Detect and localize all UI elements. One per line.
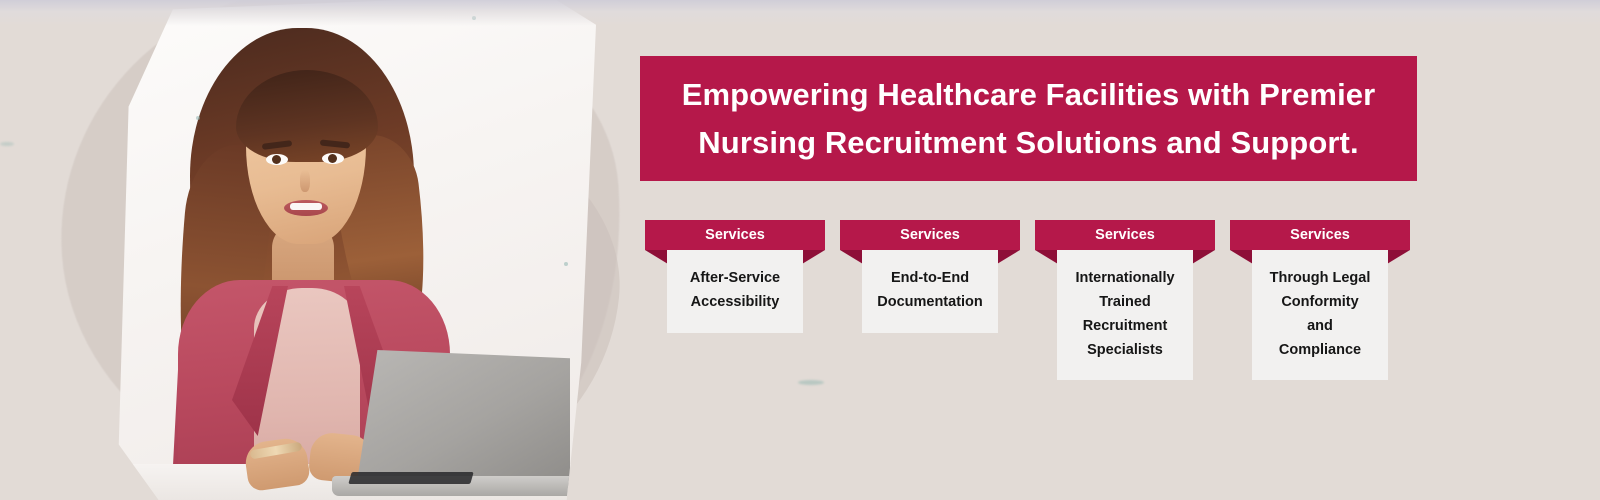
promo-banner: Empowering Healthcare Facilities with Pr…: [0, 0, 1600, 500]
service-card-ribbon: Services: [1035, 220, 1215, 250]
panel-speck: [196, 116, 200, 120]
ribbon-tail-left-icon: [840, 250, 863, 264]
content-column: Empowering Healthcare Facilities with Pr…: [640, 0, 1600, 500]
service-card[interactable]: Services End-to-End Documentation: [840, 220, 1020, 333]
service-card-body: End-to-End Documentation: [862, 250, 998, 333]
service-card-body: Internationally Trained Recruitment Spec…: [1057, 250, 1193, 380]
nose: [300, 170, 310, 192]
service-card-text: End-to-End Documentation: [870, 266, 990, 314]
eye-left: [266, 154, 288, 165]
service-card-ribbon-label: Services: [705, 228, 765, 243]
ribbon-tail-right-icon: [1192, 250, 1215, 264]
service-card[interactable]: Services Through Legal Conformity and Co…: [1230, 220, 1410, 380]
panel-speck: [564, 262, 568, 266]
service-card[interactable]: Services After-Service Accessibility: [645, 220, 825, 333]
service-card-body: After-Service Accessibility: [667, 250, 803, 333]
hero-photo-panel: [104, 0, 596, 500]
ribbon-tail-right-icon: [1387, 250, 1410, 264]
panel-speck: [472, 16, 476, 20]
laptop-screen: [356, 350, 570, 488]
service-card-ribbon: Services: [1230, 220, 1410, 250]
service-card-ribbon-label: Services: [900, 228, 960, 243]
headline-text: Empowering Healthcare Facilities with Pr…: [658, 71, 1399, 165]
service-card-text: Through Legal Conformity and Compliance: [1260, 266, 1380, 362]
service-card-ribbon: Services: [645, 220, 825, 250]
service-card-ribbon: Services: [840, 220, 1020, 250]
service-card-text: Internationally Trained Recruitment Spec…: [1065, 266, 1185, 362]
headline-banner: Empowering Healthcare Facilities with Pr…: [640, 56, 1417, 181]
eye-right: [322, 153, 344, 164]
hero-image: [0, 0, 640, 500]
service-card-body: Through Legal Conformity and Compliance: [1252, 250, 1388, 380]
laptop-keyboard: [348, 472, 473, 484]
service-card-ribbon-label: Services: [1095, 228, 1155, 243]
teeth: [290, 203, 322, 210]
service-card-list: Services After-Service Accessibility Ser…: [640, 220, 1430, 400]
ribbon-tail-left-icon: [1230, 250, 1253, 264]
service-card-text: After-Service Accessibility: [675, 266, 795, 314]
ribbon-tail-right-icon: [997, 250, 1020, 264]
ribbon-tail-left-icon: [1035, 250, 1058, 264]
background-artifact-smudge: [0, 142, 14, 146]
person-illustration: [104, 0, 596, 500]
ribbon-tail-left-icon: [645, 250, 668, 264]
service-card-ribbon-label: Services: [1290, 228, 1350, 243]
service-card[interactable]: Services Internationally Trained Recruit…: [1035, 220, 1215, 380]
ribbon-tail-right-icon: [802, 250, 825, 264]
